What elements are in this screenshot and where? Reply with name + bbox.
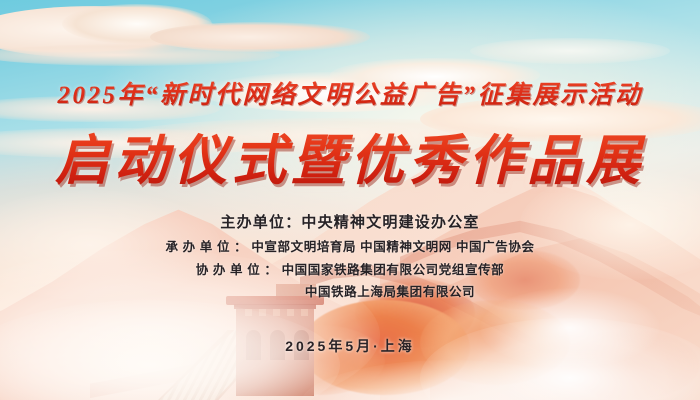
- event-headline: 2025年“新时代网络文明公益广告”征集展示活动: [0, 75, 700, 111]
- organizer-role-label: 承 办 单 位 ：: [165, 240, 247, 254]
- organizer-role-label: 主办单位：: [220, 214, 301, 231]
- event-poster: 2025年“新时代网络文明公益广告”征集展示活动 启动仪式暨优秀作品展 主办单位…: [0, 0, 700, 400]
- event-date-location: 2025年5月·上海: [0, 336, 700, 356]
- organizer-names: 中国国家铁路集团有限公司党组宣传部: [282, 263, 505, 277]
- organizer-role-label: 协 办 单 位 ：: [196, 263, 278, 277]
- organizer-line-coorganizer: 承 办 单 位 ： 中宣部文明培育局 中国精神文明网 中国广告协会: [0, 236, 700, 255]
- organizer-line-host: 主办单位：中央精神文明建设办公室: [0, 211, 700, 232]
- organizer-line-supporter-continued: 中国铁路上海局集团有限公司: [0, 281, 700, 300]
- organizer-line-supporter: 协 办 单 位 ： 中国国家铁路集团有限公司党组宣传部: [0, 259, 700, 278]
- organizer-names: 中央精神文明建设办公室: [301, 214, 479, 231]
- poster-text-layer: 2025年“新时代网络文明公益广告”征集展示活动 启动仪式暨优秀作品展 主办单位…: [0, 0, 700, 400]
- organizer-names: 中国铁路上海局集团有限公司: [305, 285, 475, 299]
- organizer-names: 中宣部文明培育局 中国精神文明网 中国广告协会: [251, 240, 534, 254]
- page-title: 启动仪式暨优秀作品展: [0, 116, 700, 195]
